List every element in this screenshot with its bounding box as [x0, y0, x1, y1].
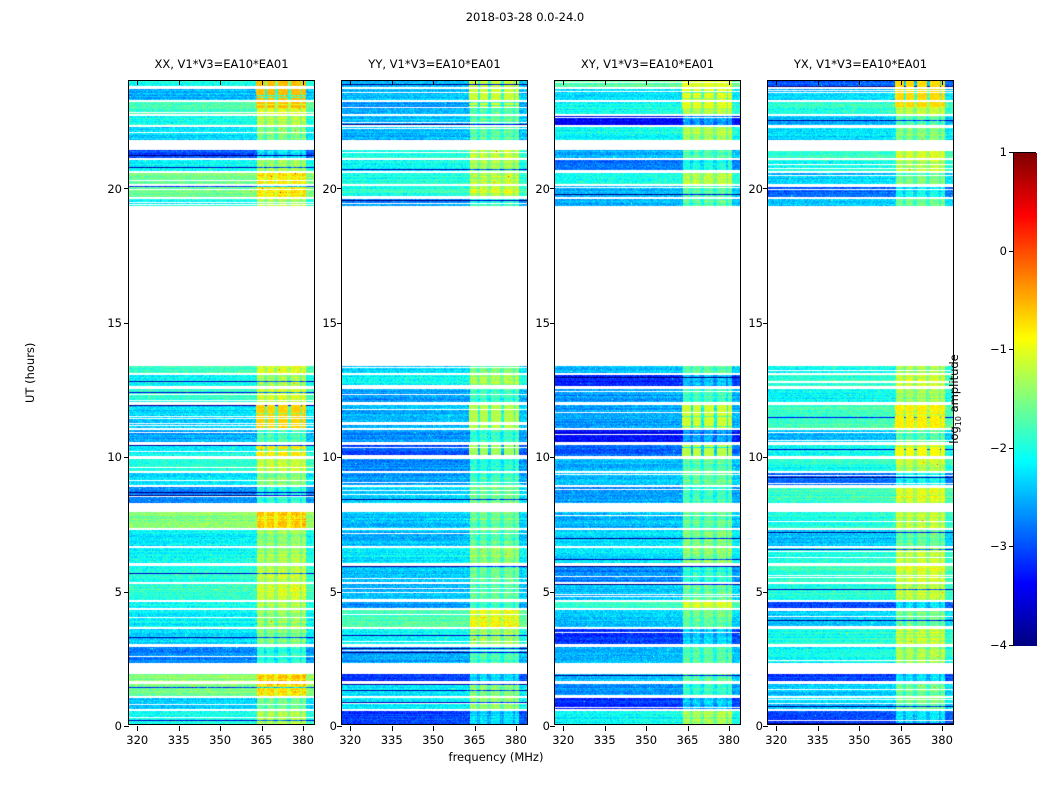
tick-mark [337, 592, 342, 593]
x-axis-tick-label: 320 [117, 733, 157, 747]
colorbar-tick-mark [1009, 546, 1014, 547]
y-axis-tick-label: 15 [735, 316, 763, 330]
x-axis-tick-label: 350 [626, 733, 666, 747]
colorbar-tick-label: 0 [969, 244, 1007, 258]
tick-mark [646, 726, 647, 731]
panel-title-xy: XY, V1*V3=EA10*EA01 [554, 57, 741, 71]
y-axis-tick-label: 20 [84, 182, 122, 196]
tick-mark [137, 80, 138, 85]
tick-mark [124, 457, 129, 458]
x-axis-tick-label: 380 [283, 733, 323, 747]
colorbar-tick-label: −4 [969, 638, 1007, 652]
figure-suptitle: 2018-03-28 0.0-24.0 [0, 10, 1050, 24]
y-axis-tick-label: 20 [735, 182, 763, 196]
tick-mark [942, 726, 943, 731]
tick-mark [337, 188, 342, 189]
tick-mark [303, 80, 304, 85]
x-axis-tick-label: 350 [839, 733, 879, 747]
y-axis-tick-label: 15 [309, 316, 337, 330]
tick-mark [776, 80, 777, 85]
tick-mark [137, 726, 138, 731]
tick-mark [563, 726, 564, 731]
y-axis-tick-label: 5 [84, 585, 122, 599]
tick-mark [220, 726, 221, 731]
tick-mark [605, 726, 606, 731]
tick-mark [337, 323, 342, 324]
y-axis-tick-label: 15 [522, 316, 550, 330]
heatmap-panel-yx[interactable] [767, 80, 954, 725]
colorbar [1013, 152, 1036, 645]
tick-mark [179, 726, 180, 731]
y-axis-tick-label: 10 [735, 450, 763, 464]
tick-mark [688, 80, 689, 85]
tick-mark [303, 726, 304, 731]
x-axis-tick-label: 335 [372, 733, 412, 747]
tick-mark [605, 80, 606, 85]
tick-mark [550, 457, 555, 458]
x-axis-tick-label: 365 [881, 733, 921, 747]
tick-mark [942, 80, 943, 85]
colorbar-tick-mark [1009, 645, 1014, 646]
colorbar-tick-mark [1009, 251, 1014, 252]
x-axis-tick-label: 365 [455, 733, 495, 747]
tick-mark [262, 80, 263, 85]
tick-mark [763, 592, 768, 593]
tick-mark [550, 188, 555, 189]
tick-mark [550, 592, 555, 593]
x-axis-tick-label: 320 [756, 733, 796, 747]
y-axis-tick-label: 5 [522, 585, 550, 599]
panel-title-xx: XX, V1*V3=EA10*EA01 [128, 57, 315, 71]
y-axis-tick-label: 10 [522, 450, 550, 464]
tick-mark [729, 726, 730, 731]
tick-mark [124, 592, 129, 593]
tick-mark [262, 726, 263, 731]
x-axis-tick-label: 350 [413, 733, 453, 747]
heatmap-panel-xy[interactable] [554, 80, 741, 725]
tick-mark [859, 726, 860, 731]
y-axis-tick-label: 15 [84, 316, 122, 330]
y-axis-tick-label: 5 [309, 585, 337, 599]
x-axis-tick-label: 380 [709, 733, 749, 747]
x-axis-tick-label: 350 [200, 733, 240, 747]
tick-mark [763, 726, 768, 727]
y-axis-tick-label: 20 [309, 182, 337, 196]
colorbar-tick-mark [1009, 152, 1014, 153]
y-axis-tick-label: 0 [309, 719, 337, 733]
tick-mark [688, 726, 689, 731]
y-axis-tick-label: 10 [309, 450, 337, 464]
x-axis-tick-label: 320 [330, 733, 370, 747]
colorbar-tick-label: −2 [969, 441, 1007, 455]
tick-mark [475, 726, 476, 731]
y-axis-tick-label: 10 [84, 450, 122, 464]
tick-mark [563, 80, 564, 85]
tick-mark [124, 323, 129, 324]
tick-mark [550, 323, 555, 324]
y-axis-tick-label: 0 [522, 719, 550, 733]
tick-mark [392, 80, 393, 85]
x-axis-tick-label: 335 [798, 733, 838, 747]
colorbar-label-subscript: 10 [954, 416, 963, 426]
tick-mark [220, 80, 221, 85]
tick-mark [818, 80, 819, 85]
x-axis-label: frequency (MHz) [0, 750, 1050, 764]
tick-mark [776, 726, 777, 731]
tick-mark [763, 457, 768, 458]
colorbar-tick-label: 1 [969, 145, 1007, 159]
tick-mark [646, 80, 647, 85]
heatmap-panel-xx[interactable] [128, 80, 315, 725]
tick-mark [124, 726, 129, 727]
tick-mark [516, 726, 517, 731]
colorbar-label-suffix: amplitude [947, 354, 961, 416]
colorbar-tick-label: −3 [969, 539, 1007, 553]
colorbar-tick-mark [1009, 349, 1014, 350]
tick-mark [901, 80, 902, 85]
tick-mark [901, 726, 902, 731]
x-axis-tick-label: 365 [668, 733, 708, 747]
tick-mark [763, 188, 768, 189]
panel-title-yy: YY, V1*V3=EA10*EA01 [341, 57, 528, 71]
tick-mark [337, 457, 342, 458]
y-axis-tick-label: 0 [735, 719, 763, 733]
y-axis-tick-label: 20 [522, 182, 550, 196]
tick-mark [475, 80, 476, 85]
tick-mark [550, 726, 555, 727]
tick-mark [516, 80, 517, 85]
y-axis-tick-label: 0 [84, 719, 122, 733]
tick-mark [392, 726, 393, 731]
x-axis-tick-label: 320 [543, 733, 583, 747]
panel-title-yx: YX, V1*V3=EA10*EA01 [767, 57, 954, 71]
tick-mark [433, 80, 434, 85]
tick-mark [763, 323, 768, 324]
colorbar-tick-label: −1 [969, 342, 1007, 356]
y-axis-tick-label: 5 [735, 585, 763, 599]
tick-mark [729, 80, 730, 85]
colorbar-label: log10 amplitude [947, 354, 963, 444]
x-axis-tick-label: 335 [159, 733, 199, 747]
tick-mark [350, 726, 351, 731]
x-axis-tick-label: 365 [242, 733, 282, 747]
x-axis-tick-label: 335 [585, 733, 625, 747]
tick-mark [179, 80, 180, 85]
tick-mark [433, 726, 434, 731]
x-axis-tick-label: 380 [922, 733, 962, 747]
figure-canvas: 2018-03-28 0.0-24.0 XX, V1*V3=EA10*EA01 … [0, 0, 1050, 800]
x-axis-tick-label: 380 [496, 733, 536, 747]
tick-mark [859, 80, 860, 85]
heatmap-panel-yy[interactable] [341, 80, 528, 725]
colorbar-label-prefix: log [947, 426, 961, 444]
tick-mark [124, 188, 129, 189]
tick-mark [350, 80, 351, 85]
tick-mark [818, 726, 819, 731]
tick-mark [337, 726, 342, 727]
colorbar-tick-mark [1009, 448, 1014, 449]
